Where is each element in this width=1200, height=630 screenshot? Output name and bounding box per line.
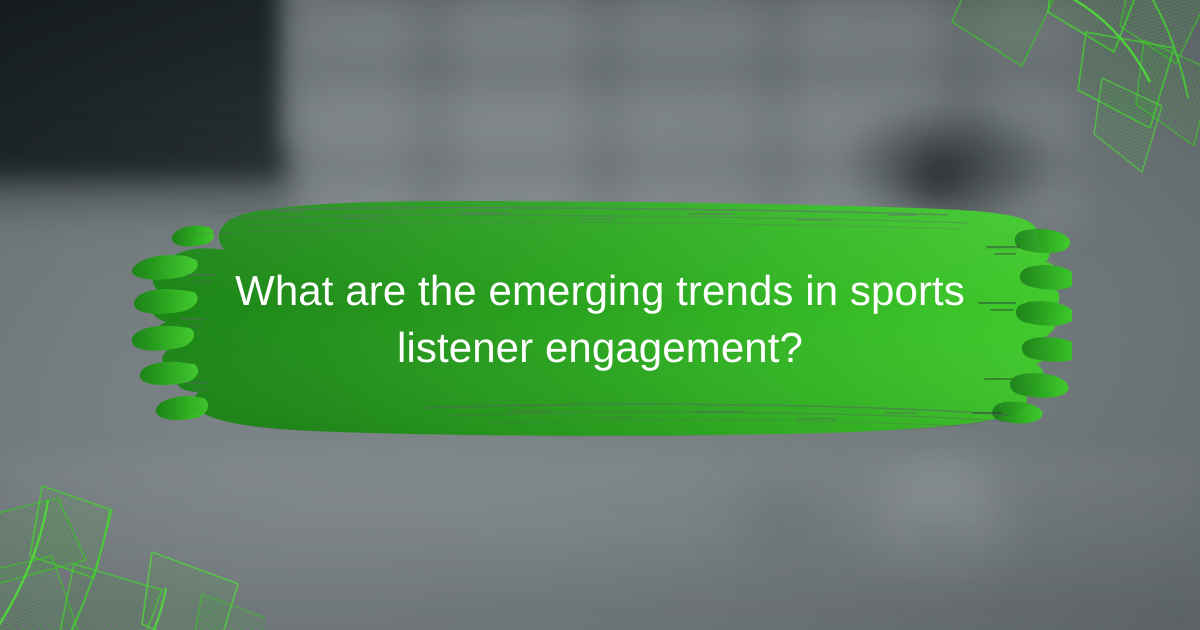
question-headline: What are the emerging trends in sports l… [150,262,1050,376]
leaf-frond-top-right-icon [936,0,1200,201]
leaf-frond-bottom-left-icon [0,444,265,630]
question-card: What are the emerging trends in sports l… [0,0,1200,630]
